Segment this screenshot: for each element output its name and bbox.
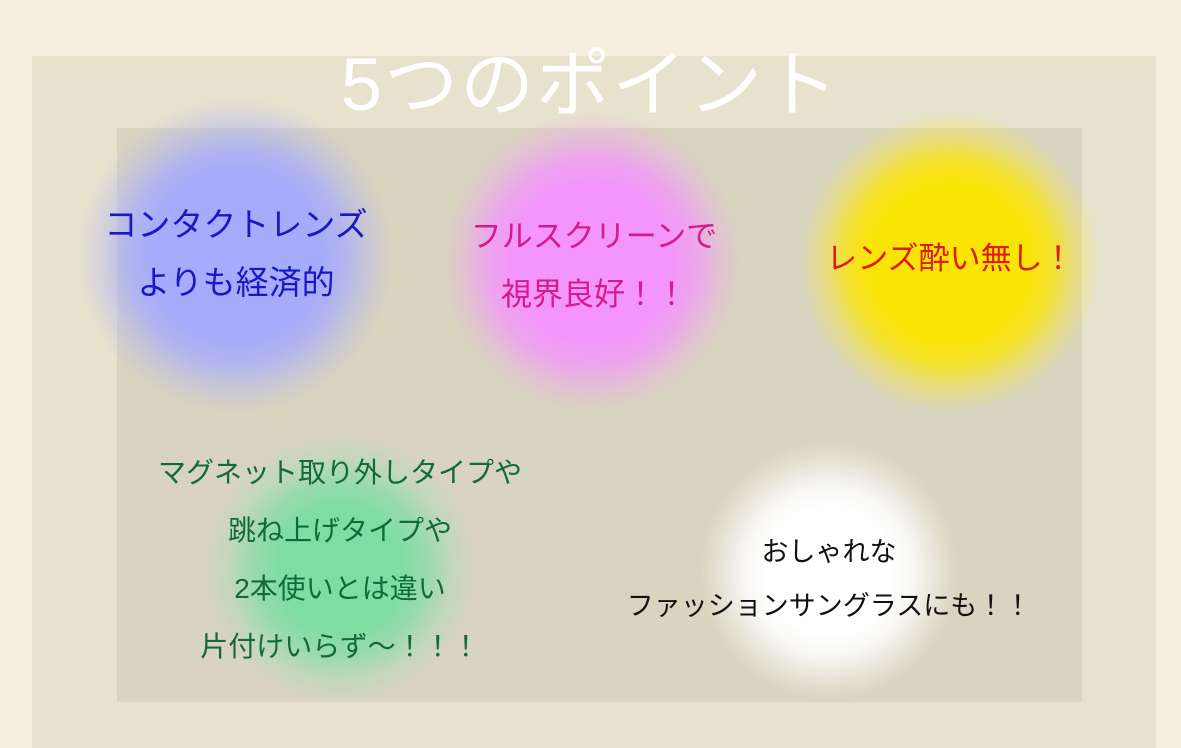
point-line: おしゃれな xyxy=(614,525,1044,579)
point-line: レンズ酔い無し！ xyxy=(790,236,1110,282)
point-text-fashion-sunglasses: おしゃれな ファッションサングラスにも！！ xyxy=(614,525,1044,633)
point-line: 跳ね上げタイプや xyxy=(112,502,568,560)
point-text-contact-lens: コンタクトレンズ よりも経済的 xyxy=(48,196,424,312)
point-text-no-lens-sickness: レンズ酔い無し！ xyxy=(790,236,1110,282)
point-line: よりも経済的 xyxy=(48,254,424,312)
slide-canvas: 5つのポイント コンタクトレンズ よりも経済的 フルスクリーンで 視界良好！！ … xyxy=(0,0,1181,748)
point-line: マグネット取り外しタイプや xyxy=(112,444,568,502)
point-line: 2本使いとは違い xyxy=(112,560,568,618)
point-line: 視界良好！！ xyxy=(428,266,760,324)
page-title: 5つのポイント xyxy=(0,42,1181,128)
point-text-magnet-type: マグネット取り外しタイプや 跳ね上げタイプや 2本使いとは違い 片付けいらず〜！… xyxy=(112,444,568,676)
point-line: コンタクトレンズ xyxy=(48,196,424,254)
point-line: ファッションサングラスにも！！ xyxy=(614,579,1044,633)
point-line: 片付けいらず〜！！！ xyxy=(112,618,568,676)
point-line: フルスクリーンで xyxy=(428,208,760,266)
point-text-full-screen: フルスクリーンで 視界良好！！ xyxy=(428,208,760,324)
